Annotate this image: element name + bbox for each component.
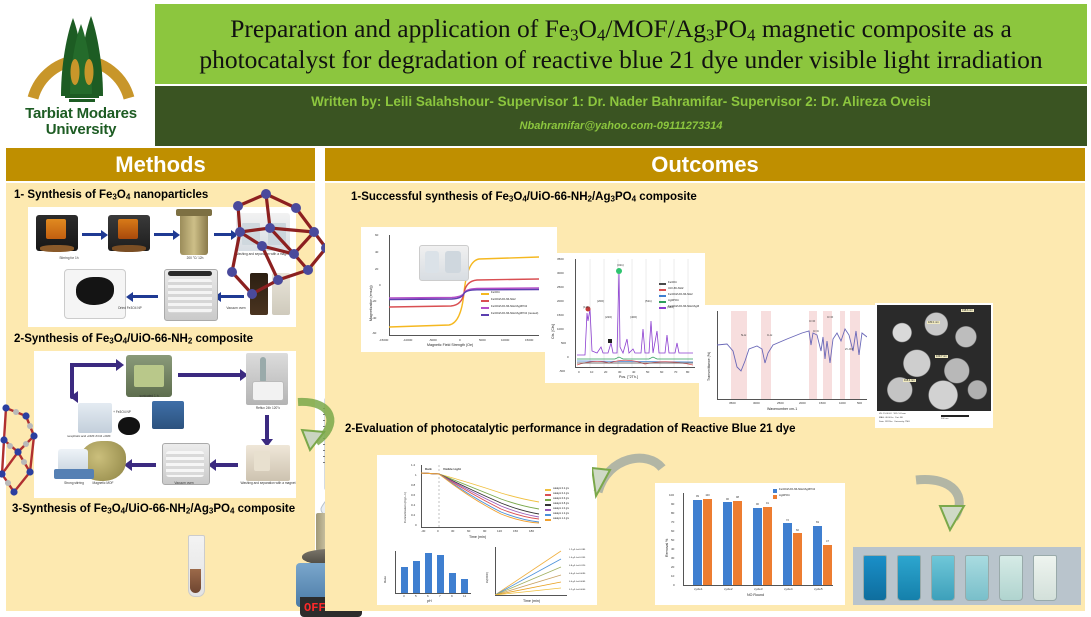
logo-line-2: University (46, 122, 117, 138)
poster-title: Preparation and application of Fe3O4/MOF… (155, 14, 1087, 75)
methods-banner: Methods (6, 148, 315, 181)
axis-tick: cycle3 (754, 587, 763, 591)
logo-line-1: Tarbiat Modares (25, 106, 137, 122)
axis-tick: cycle1 (694, 587, 703, 591)
figure-caption: Stirring for 1h (36, 257, 102, 261)
poster-title-bar: Preparation and application of Fe3O4/MOF… (155, 4, 1087, 84)
methods-banner-label: Methods (115, 152, 205, 178)
chart-ftir-spectrum: 3500 3000 2500 2000 1500 1000 500 Wavenu… (699, 305, 875, 417)
tarbiat-modares-logo-icon (21, 6, 141, 106)
axis-tick: 11 (463, 594, 466, 598)
legend-entry: UiO-66-NH2 (668, 286, 683, 290)
legend-entry: Fe3O4/UiO-66-NH2/Ag3PO4 (reused) (491, 311, 538, 315)
legend-entry: catalyst 0.6 g/L (553, 497, 569, 500)
outcome-1-heading: 1-Successful synthesis of Fe3O4/UiO-66-N… (351, 191, 697, 204)
legend-entry: catalyst 0.4 g/L (553, 492, 569, 495)
outcomes-banner: Outcomes (325, 148, 1085, 181)
axis-tick: 5 (415, 594, 417, 598)
legend-entry: 0.4 g/L k=0.0065 (569, 581, 585, 583)
axis-tick: cycle4 (784, 587, 793, 591)
figure-caption: + Fe3O4 NP (106, 411, 138, 415)
poster-header: Tarbiat Modares University Preparation a… (0, 0, 1091, 148)
chart-photocatalytic-kinetics: 1.2 1 0.8 0.6 0.4 0.2 0 -30 0 30 60 90 1… (377, 455, 597, 605)
axis-tick: cycle2 (724, 587, 733, 591)
legend-entry: 0.8 g/L k=0.0120 (569, 565, 585, 567)
method-step3-heading: 3-Synthesis of Fe3O4/UiO-66-NH2/Ag3PO4 c… (12, 503, 295, 516)
legend-entry: 0.6 g/L k=0.0090 (569, 573, 585, 575)
mof-structure-graphic-small (0, 400, 42, 510)
image-dye-degradation-vials (853, 547, 1081, 605)
legend-entry: 1.0 g/L k=0.0155 (569, 557, 585, 559)
axis-tick: 3 (403, 594, 405, 598)
figure-mof-synthesis: Reflux 24h 120°c Washing and separation … (34, 351, 296, 498)
university-logo: Tarbiat Modares University (8, 2, 154, 148)
figure-caption: Strong stirring (52, 482, 96, 486)
figure-caption: Reflux 24h 120°c (242, 407, 294, 411)
chart-xrd-pattern: 3500 3000 2500 2000 1500 1000 500 0 -500… (545, 253, 705, 383)
legend-entry: Ag3PO4 (668, 298, 679, 302)
legend-entry: catalyst 1.2 g/L (553, 512, 569, 515)
legend-entry: Fe3O4 (491, 290, 500, 294)
axis-tick: cycle5 (814, 587, 823, 591)
legend-entry: catalyst 1.4 g/L (553, 517, 569, 520)
hotplate-display-left: OFF (304, 601, 326, 615)
legend-entry: catalyst 0.2 g/L (553, 487, 569, 490)
mof-structure-graphic (218, 184, 336, 314)
figure-caption: Dried Fe3O4 NP (112, 307, 148, 311)
legend-entry: Fe3O4 (668, 280, 677, 284)
figure-caption: 200 °C/ 12h (168, 257, 222, 261)
outcomes-banner-label: Outcomes (651, 152, 759, 178)
contact-line: Nbahramifar@yahoo.com-09111273314 (155, 120, 1087, 132)
axis-label-x: NO Round (747, 593, 764, 597)
legend-entry: 0.2 g/L k=0.0040 (569, 589, 585, 591)
outcomes-panel: 1-Successful synthesis of Fe3O4/UiO-66-N… (325, 183, 1085, 611)
legend-entry: Fe3O4/UiO-66-NH2/Ag3PO4 (779, 487, 815, 491)
axis-tick: 7 (439, 594, 441, 598)
legend-entry: 1.2 g/L k=0.0185 (569, 549, 585, 551)
figure-caption: terephtalic acid +DMF ZrCl4 +DMF (60, 435, 118, 438)
flow-arrow-icon (912, 472, 984, 534)
legend-entry: Fe3O4/UiO-66-NH2/Ag3PO4 (491, 304, 527, 308)
test-tube-image (178, 535, 214, 603)
figure-caption: Vacuum oven (160, 482, 208, 486)
authors-bar: Written by: Leili Salahshour- Supervisor… (155, 86, 1087, 146)
method-step2-heading: 2-Synthesis of Fe3O4/UiO-66-NH2 composit… (14, 333, 253, 346)
chart-vsm-magnetization: 60 40 20 0 -20 -40 -60 -15000 -10000 -50… (361, 227, 557, 352)
flow-arrow-icon (592, 440, 668, 506)
legend-entry: Fe3O4/UiO-66-NH2 (668, 292, 693, 296)
legend-entry: catalyst 1.0 g/L (553, 507, 569, 510)
authors-line: Written by: Leili Salahshour- Supervisor… (155, 94, 1087, 109)
method-step1-heading: 1- Synthesis of Fe3O4 nanoparticles (14, 189, 208, 202)
axis-tick: 9 (451, 594, 453, 598)
outcome-2-heading: 2-Evaluation of photocatalytic performan… (345, 423, 796, 435)
flow-arrow-icon (290, 392, 348, 454)
figure-caption: sonicated 1 h (132, 395, 166, 399)
legend-entry: catalyst 0.8 g/L (553, 502, 569, 505)
poster-canvas: Tarbiat Modares University Preparation a… (0, 0, 1091, 617)
legend-entry: Fe3O4/UiO-66-NH2 (491, 297, 516, 301)
axis-tick: 6 (427, 594, 429, 598)
legend-entry: Ag3PO4 (779, 493, 790, 497)
image-sem-micrograph: 183.1 nm 169.7 nm 118.4 nm 198.6 nm HV: … (875, 303, 993, 428)
chart-reusability: Removal % NO Round 0 10 20 30 40 50 60 7… (655, 483, 845, 605)
figure-caption: Washing and separation with a magnet (240, 482, 296, 486)
